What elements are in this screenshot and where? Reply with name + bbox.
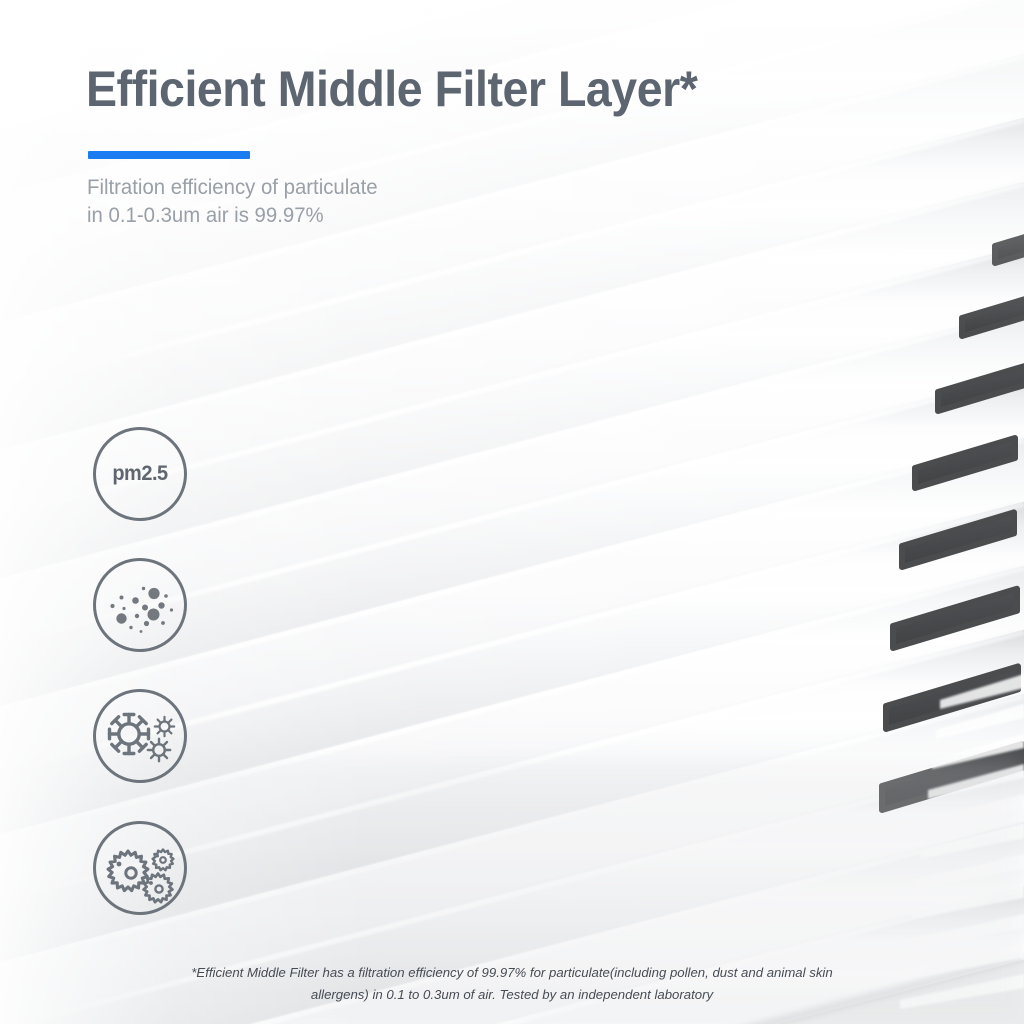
pollen-badge	[91, 819, 189, 917]
product-infographic: Efficient Middle Filter Layer* Filtratio…	[0, 0, 1024, 1024]
dust-particles-icon	[91, 556, 189, 654]
page-subtitle: Filtration efficiency of particulate in …	[87, 174, 378, 230]
page-title: Efficient Middle Filter Layer*	[86, 62, 697, 116]
virus-badge	[91, 687, 189, 785]
dust-badge	[91, 556, 189, 654]
pm2.5-badge: pm2.5	[91, 425, 189, 523]
pm25-badge-label: pm2.5	[93, 425, 186, 523]
disclaimer-footnote: *Efficient Middle Filter has a filtratio…	[0, 962, 1024, 1006]
accent-divider	[88, 151, 250, 159]
pollen-icon	[91, 819, 189, 917]
virus-icon	[91, 687, 189, 785]
